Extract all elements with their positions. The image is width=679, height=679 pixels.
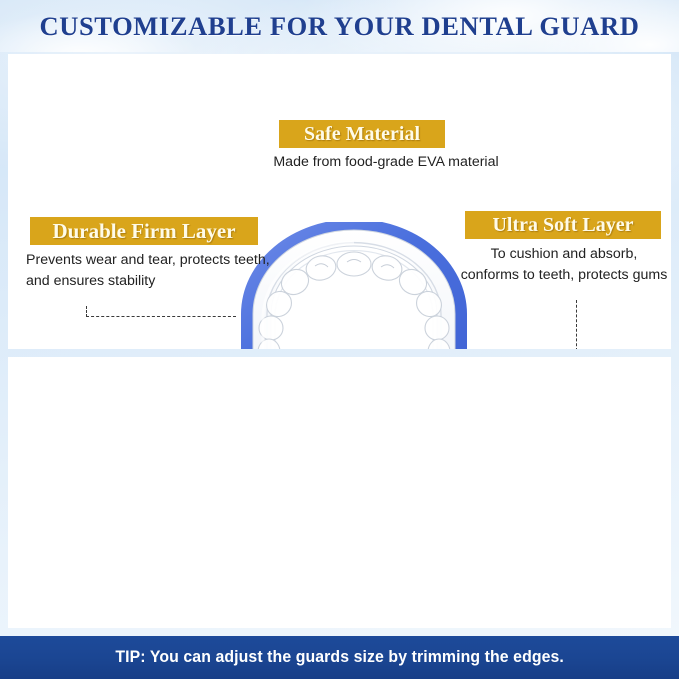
desc-ultra-soft-layer: To cushion and absorb, conforms to teeth… (451, 244, 671, 286)
leader-line-firm-upper (86, 316, 236, 317)
tip-banner: TIP: You can adjust the guards size by t… (0, 636, 679, 679)
top-feature-panel: Safe Material Made from food-grade EVA m… (8, 54, 671, 349)
bottom-feature-panel: A Notch Design for Comfort Easily Trimme… (8, 357, 671, 628)
label-ultra-soft-layer: Ultra Soft Layer (465, 211, 661, 239)
desc-durable-firm-layer: Prevents wear and tear, protects teeth, … (26, 250, 294, 292)
infographic-page: CUSTOMIZABLE FOR YOUR DENTAL GUARD (0, 0, 679, 679)
leader-line-ultra-vertical (576, 300, 577, 349)
leader-line-firm-tick (86, 306, 87, 317)
page-title: CUSTOMIZABLE FOR YOUR DENTAL GUARD (39, 11, 639, 42)
tip-text: TIP: You can adjust the guards size by t… (115, 648, 564, 667)
desc-safe-material: Made from food-grade EVA material (256, 152, 516, 173)
header-bar: CUSTOMIZABLE FOR YOUR DENTAL GUARD (0, 0, 679, 52)
label-safe-material: Safe Material (279, 120, 445, 148)
label-durable-firm-layer: Durable Firm Layer (30, 217, 258, 245)
